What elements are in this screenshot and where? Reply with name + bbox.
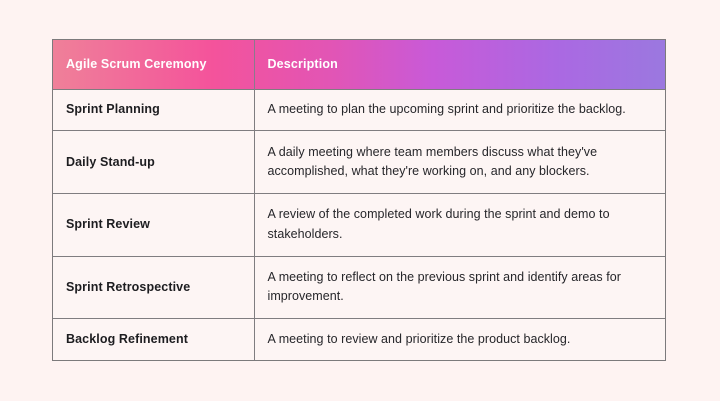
cell-ceremony-name: Sprint Review: [53, 193, 254, 256]
cell-ceremony-description: A meeting to reflect on the previous spr…: [254, 256, 665, 319]
ceremony-table-container: Agile Scrum Ceremony Description Sprint …: [52, 39, 666, 361]
cell-ceremony-name: Backlog Refinement: [53, 319, 254, 360]
table-body: Sprint Planning A meeting to plan the up…: [53, 89, 665, 360]
page-root: Agile Scrum Ceremony Description Sprint …: [0, 0, 720, 401]
cell-ceremony-description: A review of the completed work during th…: [254, 193, 665, 256]
table-row: Backlog Refinement A meeting to review a…: [53, 319, 665, 360]
table-header: Agile Scrum Ceremony Description: [53, 40, 665, 89]
cell-ceremony-name: Daily Stand-up: [53, 131, 254, 194]
header-row: Agile Scrum Ceremony Description: [53, 40, 665, 89]
agile-scrum-ceremony-table: Agile Scrum Ceremony Description Sprint …: [53, 40, 665, 360]
cell-ceremony-description: A meeting to plan the upcoming sprint an…: [254, 89, 665, 131]
table-row: Sprint Retrospective A meeting to reflec…: [53, 256, 665, 319]
table-row: Sprint Review A review of the completed …: [53, 193, 665, 256]
cell-ceremony-name: Sprint Retrospective: [53, 256, 254, 319]
cell-ceremony-description: A meeting to review and prioritize the p…: [254, 319, 665, 360]
table-row: Daily Stand-up A daily meeting where tea…: [53, 131, 665, 194]
cell-ceremony-name: Sprint Planning: [53, 89, 254, 131]
column-header-ceremony: Agile Scrum Ceremony: [53, 40, 254, 89]
table-row: Sprint Planning A meeting to plan the up…: [53, 89, 665, 131]
cell-ceremony-description: A daily meeting where team members discu…: [254, 131, 665, 194]
column-header-description: Description: [254, 40, 665, 89]
